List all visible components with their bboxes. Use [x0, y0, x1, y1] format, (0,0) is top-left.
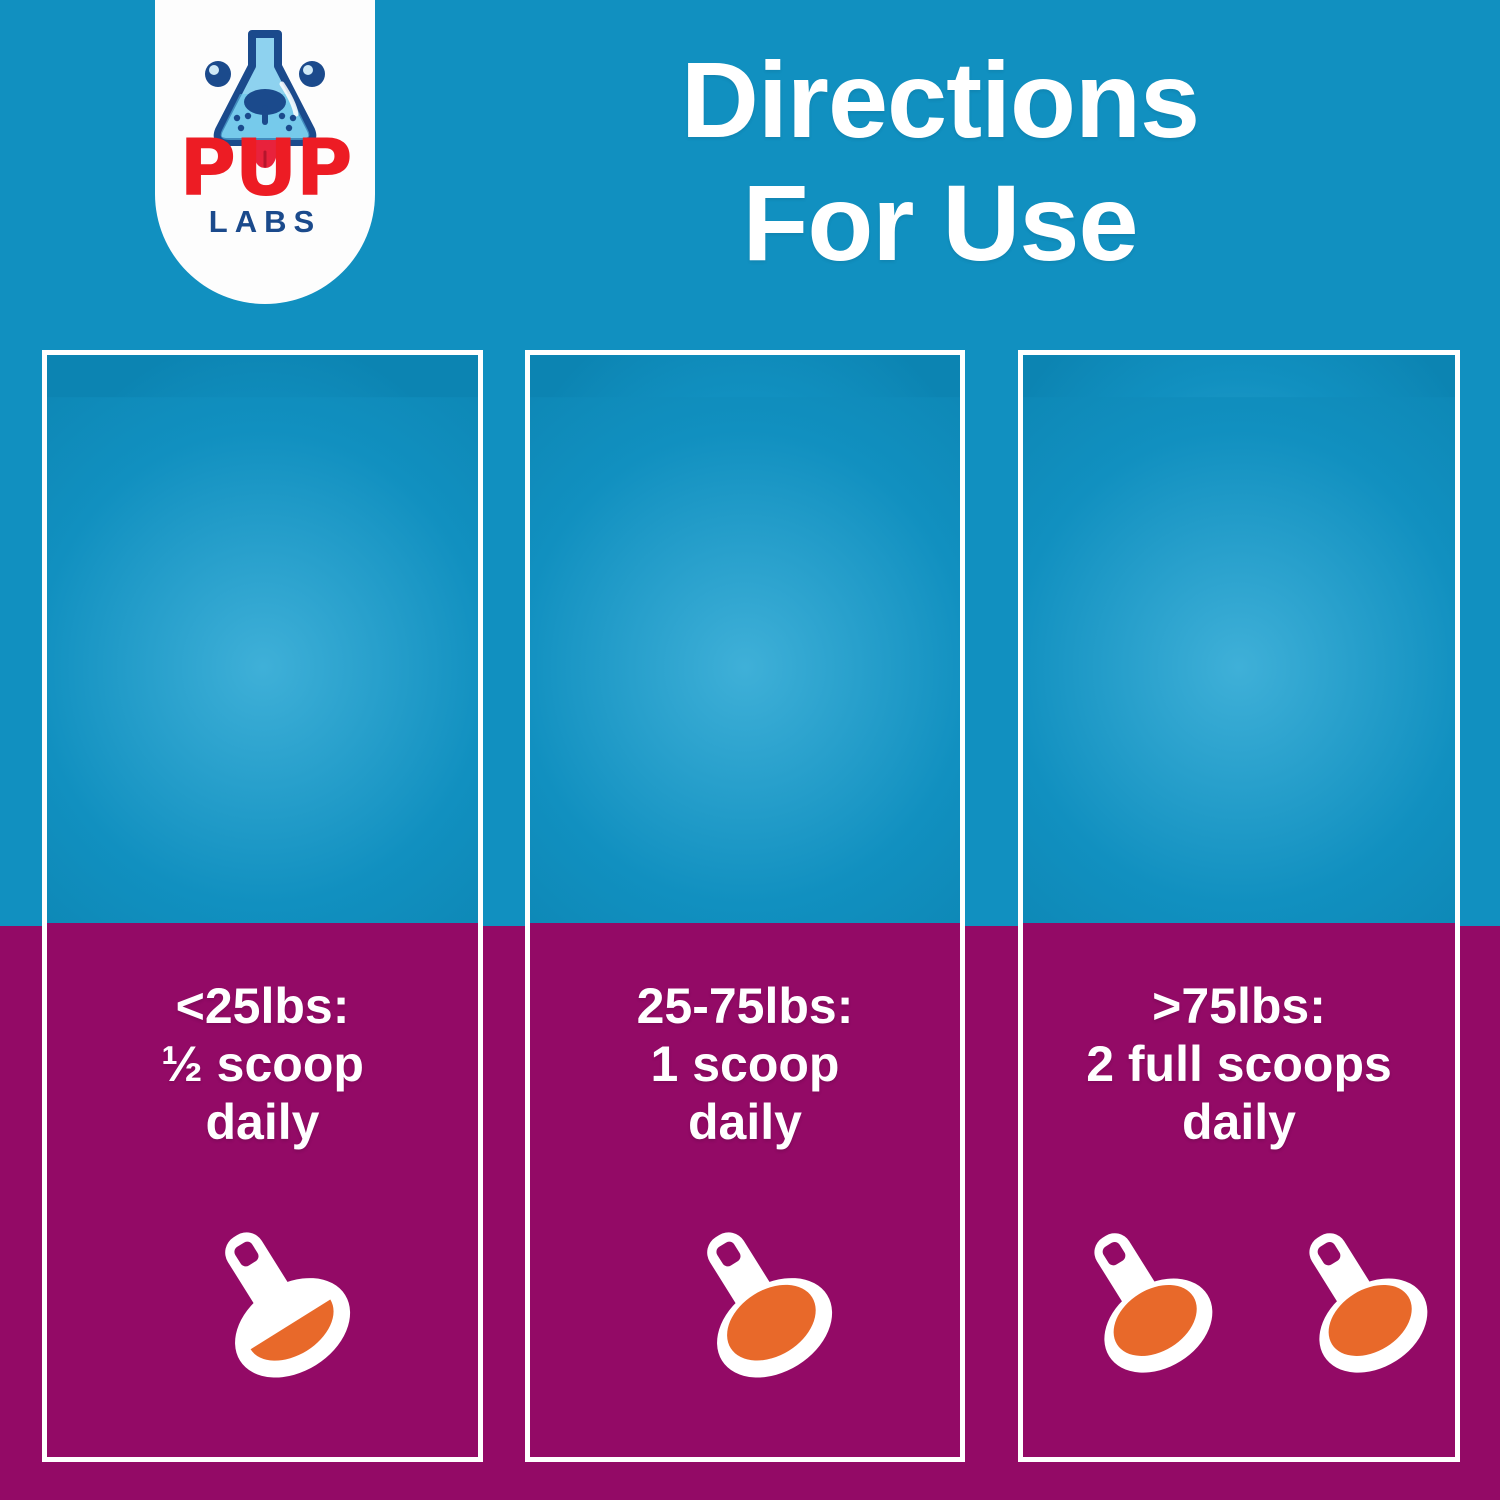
- french-bulldog-photo: [47, 355, 478, 923]
- logo-wordmark-pup: PUP: [179, 138, 351, 202]
- scoop-icons-medium-dog: [630, 1210, 860, 1385]
- saint-bernard-photo: [1023, 355, 1455, 923]
- page-title-line-2: For Use: [400, 161, 1480, 284]
- measuring-scoop-full-icon: [630, 1210, 860, 1385]
- directions-for-use-infographic: PUP LABS Directions For Use: [0, 0, 1500, 1500]
- scoop-icons-large-dog: [1029, 1210, 1449, 1385]
- dosage-panel-medium-dog: 25-75lbs: 1 scoop daily: [525, 350, 965, 1462]
- measuring-scoop-half-icon: [148, 1210, 378, 1385]
- page-title-line-1: Directions: [681, 39, 1199, 160]
- measuring-scoop-full-icon: [1244, 1210, 1449, 1385]
- dosage-text-small-dog: <25lbs: ½ scoop daily: [155, 977, 370, 1151]
- measuring-scoop-full-icon: [1029, 1210, 1234, 1385]
- brand-logo-badge: PUP LABS: [155, 0, 375, 304]
- siberian-husky-photo: [530, 355, 960, 923]
- dosage-panel-large-dog: >75lbs: 2 full scoops daily: [1018, 350, 1460, 1462]
- dosage-block-medium-dog: 25-75lbs: 1 scoop daily: [530, 923, 960, 1457]
- dosage-block-large-dog: >75lbs: 2 full scoops daily: [1023, 923, 1455, 1457]
- dosage-block-small-dog: <25lbs: ½ scoop daily: [47, 923, 478, 1457]
- page-title: Directions For Use: [400, 38, 1480, 284]
- dosage-panel-small-dog: <25lbs: ½ scoop daily: [42, 350, 483, 1462]
- dosage-text-medium-dog: 25-75lbs: 1 scoop daily: [631, 977, 860, 1151]
- scoop-icons-small-dog: [148, 1210, 378, 1385]
- dosage-text-large-dog: >75lbs: 2 full scoops daily: [1080, 977, 1398, 1151]
